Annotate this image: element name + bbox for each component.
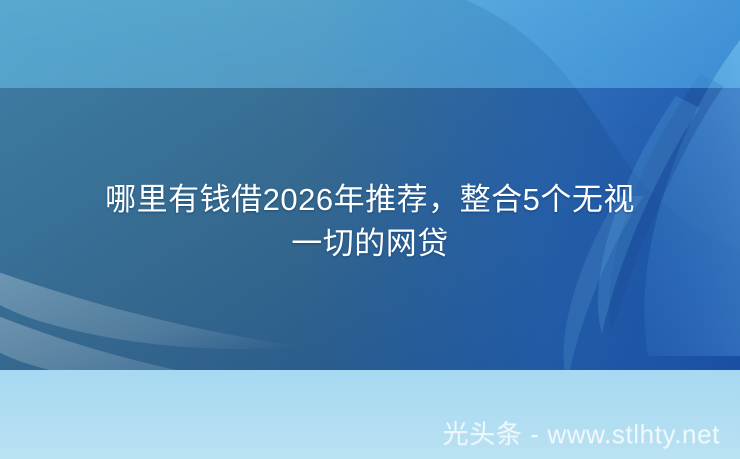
promo-banner: 哪里有钱借2026年推荐，整合5个无视 一切的网贷 光头条 - www.stlh… (0, 0, 740, 459)
banner-headline: 哪里有钱借2026年推荐，整合5个无视 一切的网贷 (0, 178, 740, 266)
headline-line-1: 哪里有钱借2026年推荐，整合5个无视 (0, 178, 740, 222)
site-watermark: 光头条 - www.stlhty.net (443, 419, 720, 449)
headline-line-2: 一切的网贷 (0, 222, 740, 266)
